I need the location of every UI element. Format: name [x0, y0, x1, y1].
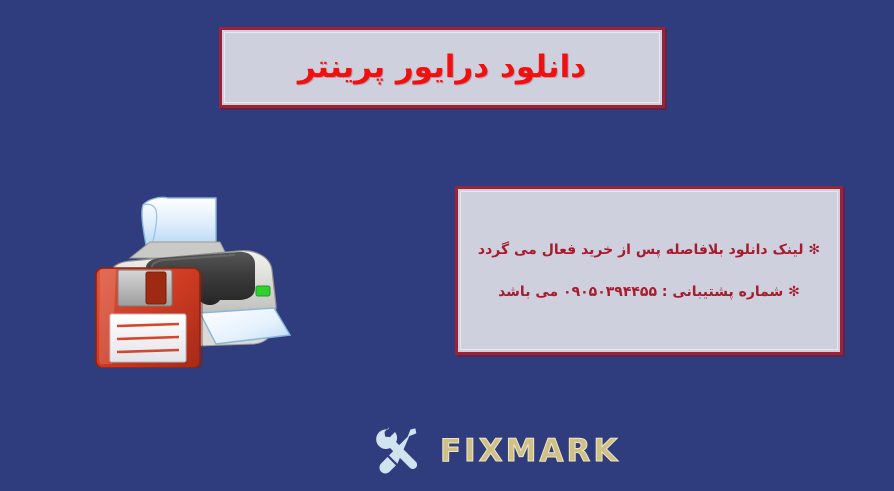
- printer-output-paper: [200, 308, 290, 344]
- printer-input-paper: [142, 197, 216, 245]
- info-line-support-number: ✻ شماره پشتیبانی : ۰۹۰۵۰۳۹۴۴۵۵ می باشد: [498, 284, 800, 300]
- slide-canvas: دانلود درایور پرینتر: [0, 0, 894, 491]
- page-title: دانلود درایور پرینتر: [298, 49, 586, 86]
- printer-illustration: [88, 172, 314, 368]
- floppy-disk-icon: [96, 268, 203, 368]
- title-banner: دانلود درایور پرینتر: [219, 27, 665, 108]
- wrench-and-screwdriver-icon: [370, 423, 426, 479]
- brand-wordmark: FIXMARK: [440, 436, 620, 467]
- info-box: ✻ لینک دانلود بلافاصله پس از خرید فعال م…: [455, 186, 843, 355]
- printer-status-led: [256, 286, 270, 296]
- info-line-download-activation: ✻ لینک دانلود بلافاصله پس از خرید فعال م…: [478, 242, 820, 258]
- brand-logo: FIXMARK: [370, 420, 570, 482]
